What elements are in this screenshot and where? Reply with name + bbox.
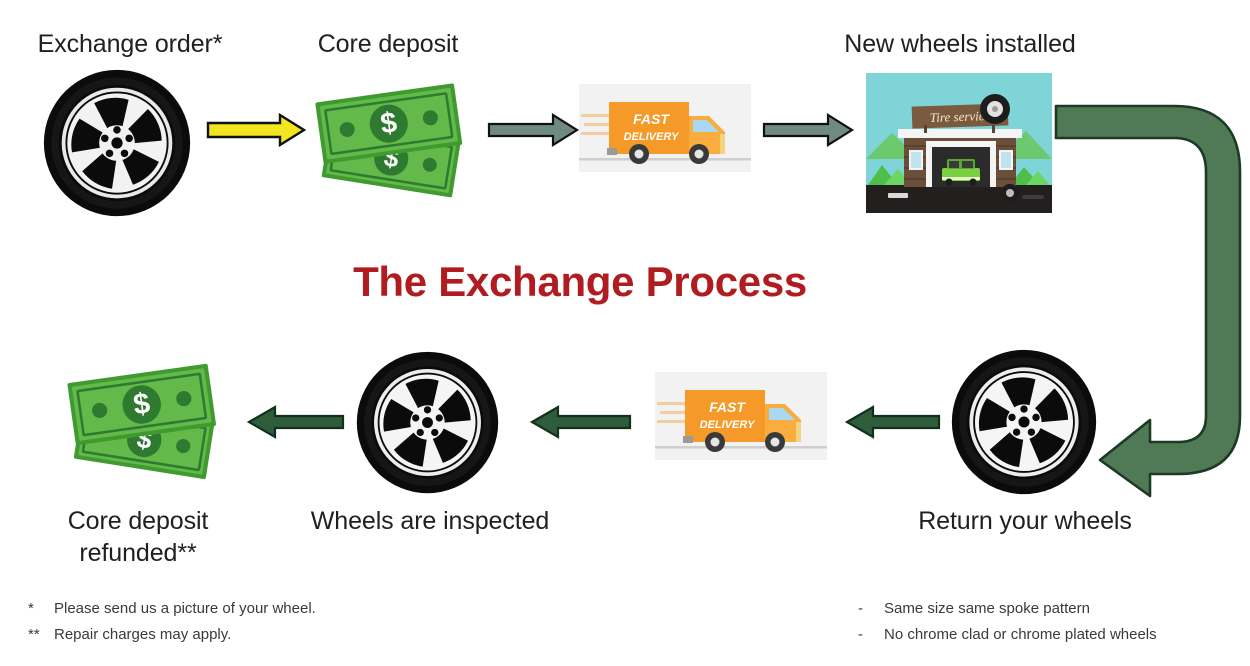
footnote-marker: ** xyxy=(28,622,54,648)
arrow-return-to-truck xyxy=(843,404,941,440)
label-return-your-wheels: Return your wheels xyxy=(860,505,1190,537)
arrow-inspect-to-refund xyxy=(245,404,345,440)
svg-text:DELIVERY: DELIVERY xyxy=(700,419,756,431)
requirement-text: Same size same spoke pattern xyxy=(884,596,1090,622)
footnote-row: ** Repair charges may apply. xyxy=(28,622,448,648)
label-new-wheels-installed: New wheels installed xyxy=(790,28,1130,60)
wheel-icon-exchange-order xyxy=(38,68,196,218)
money-icon-core-deposit: $ $ xyxy=(310,72,478,200)
footnotes-left: * Please send us a picture of your wheel… xyxy=(28,596,448,649)
svg-text:FAST: FAST xyxy=(709,399,746,415)
label-core-deposit-refunded: Core deposit refunded** xyxy=(22,505,254,569)
label-core-deposit: Core deposit xyxy=(278,28,498,60)
footnote-row: * Please send us a picture of your wheel… xyxy=(28,596,448,622)
delivery-truck-icon-inbound: FAST DELIVERY xyxy=(655,372,827,460)
arrow-truck-to-inspect xyxy=(528,404,632,440)
arrow-deposit-to-truck xyxy=(487,112,579,148)
footnotes-right: - Same size same spoke pattern - No chro… xyxy=(858,596,1250,649)
footnote-text: Please send us a picture of your wheel. xyxy=(54,596,316,622)
exchange-process-diagram: Exchange order* Core deposit New wheels … xyxy=(0,0,1250,666)
svg-text:FAST: FAST xyxy=(633,111,670,127)
label-exchange-order: Exchange order* xyxy=(0,28,260,60)
arrow-order-to-deposit xyxy=(206,112,306,148)
page-title: The Exchange Process xyxy=(0,258,1160,306)
tire-service-shop-icon: Tire service xyxy=(866,73,1052,213)
requirement-row: - No chrome clad or chrome plated wheels xyxy=(858,622,1250,648)
requirement-row: - Same size same spoke pattern xyxy=(858,596,1250,622)
requirement-text: No chrome clad or chrome plated wheels xyxy=(884,622,1157,648)
money-icon-core-deposit-refunded: $ $ xyxy=(62,352,232,482)
svg-text:DELIVERY: DELIVERY xyxy=(624,131,680,143)
requirement-bullet: - xyxy=(858,596,884,622)
label-wheels-inspected: Wheels are inspected xyxy=(280,505,580,537)
requirement-bullet: - xyxy=(858,622,884,648)
wheel-icon-return-your-wheels xyxy=(950,348,1098,496)
delivery-truck-icon-outbound: FAST DELIVERY xyxy=(579,84,751,172)
arrow-truck-to-shop xyxy=(762,112,854,148)
footnote-marker: * xyxy=(28,596,54,622)
footnote-text: Repair charges may apply. xyxy=(54,622,231,648)
wheel-icon-wheels-inspected xyxy=(355,350,500,495)
